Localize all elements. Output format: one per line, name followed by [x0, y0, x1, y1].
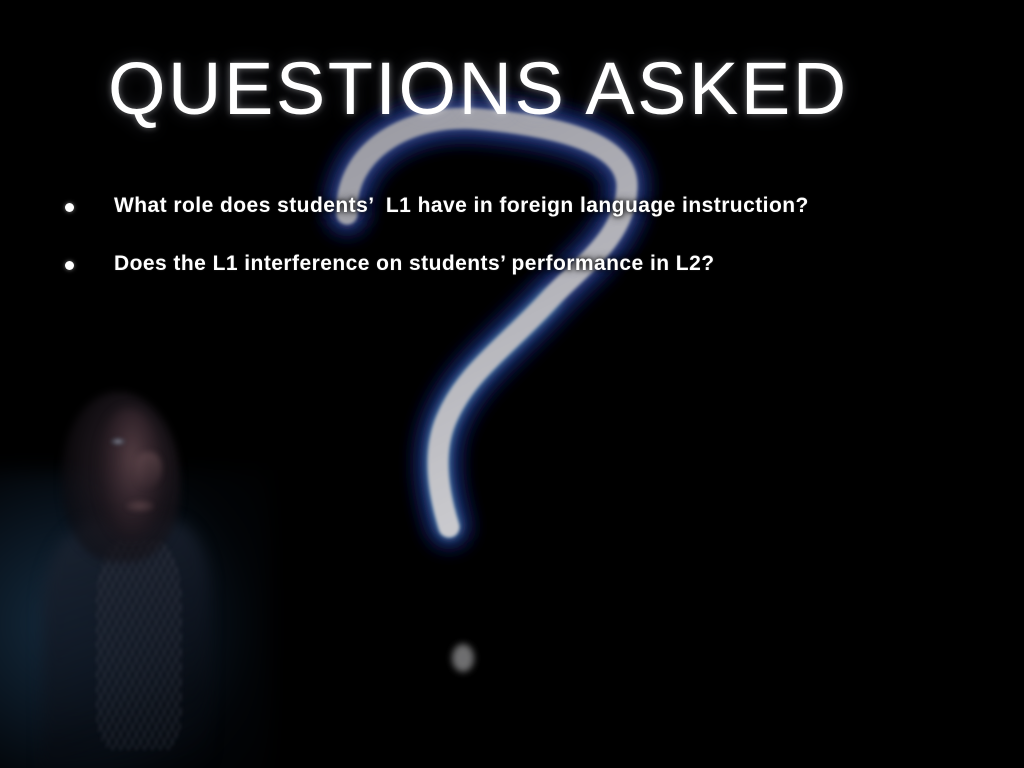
person-scarf [96, 540, 182, 750]
slide-title: QUESTIONS ASKED [108, 52, 908, 126]
person-lip [126, 500, 154, 512]
list-item: What role does students’ L1 have in fore… [58, 192, 1008, 232]
bullet-text: Does the L1 interference on students’ pe… [114, 250, 1008, 278]
ambient-blue-glow [0, 470, 270, 768]
list-item: Does the L1 interference on students’ pe… [58, 250, 1008, 290]
person-torso [42, 520, 210, 768]
person-nose [136, 452, 162, 488]
bullet-point-icon [65, 203, 74, 212]
bullet-text: What role does students’ L1 have in fore… [114, 192, 1008, 220]
person-eye [110, 437, 126, 446]
bullet-point-icon [65, 261, 74, 270]
slide-canvas: QUESTIONS ASKED What role does students’… [0, 0, 1024, 768]
bullet-list: What role does students’ L1 have in fore… [58, 192, 1008, 308]
person-head [62, 392, 180, 562]
question-mark-dot [452, 644, 474, 672]
person-face [98, 408, 164, 540]
